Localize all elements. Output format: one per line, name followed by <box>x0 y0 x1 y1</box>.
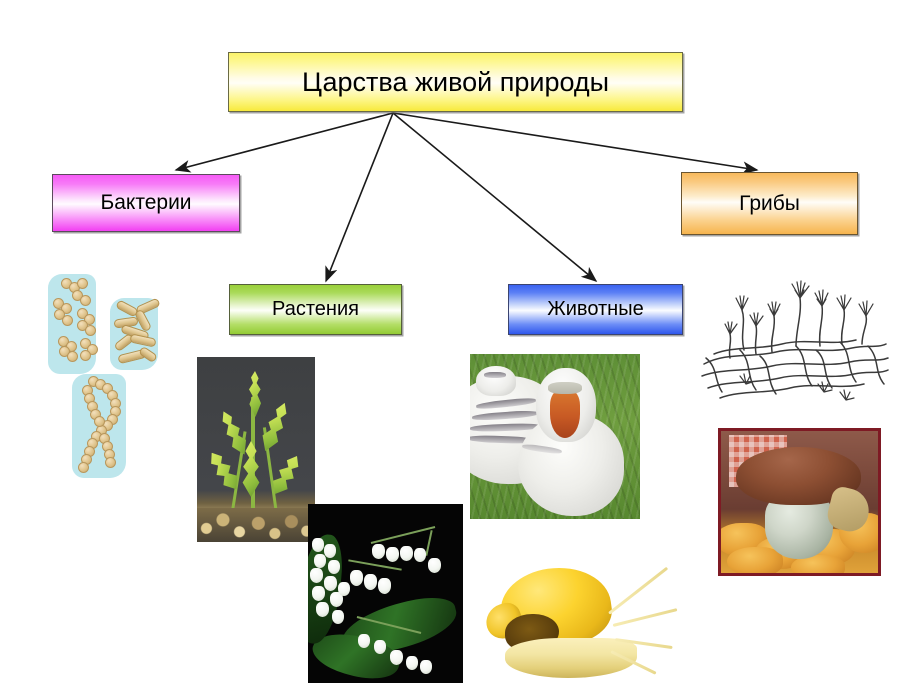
lily-of-the-valley-photo <box>308 504 463 683</box>
kingdom-box-fungi[interactable]: Грибы <box>681 172 858 235</box>
kingdom-box-bacteria[interactable]: Бактерии <box>52 174 240 232</box>
snail-foot <box>505 638 637 678</box>
arrow-to-fungi <box>393 113 757 170</box>
arrow-to-plants <box>326 113 393 281</box>
kingdom-label-bacteria: Бактерии <box>100 191 191 215</box>
kingdom-root-label: Царства живой природы <box>302 67 609 98</box>
porcini-mushroom-photo <box>718 428 881 576</box>
arrow-to-bacteria <box>176 113 393 170</box>
apple-snail-photo <box>483 558 678 683</box>
snail-tentacle <box>613 608 678 627</box>
kingdom-box-plants[interactable]: Растения <box>229 284 402 335</box>
slide-canvas: Царства живой природы Бактерии Растения … <box>0 0 910 683</box>
kingdom-label-fungi: Грибы <box>739 192 800 216</box>
snail-tentacle <box>608 567 668 615</box>
kingdom-label-animals: Животные <box>547 298 643 321</box>
kingdom-label-plants: Растения <box>272 298 359 321</box>
kingdom-root-box[interactable]: Царства живой природы <box>228 52 683 112</box>
arrow-to-animals <box>393 113 596 281</box>
kingdom-box-animals[interactable]: Животные <box>508 284 683 335</box>
